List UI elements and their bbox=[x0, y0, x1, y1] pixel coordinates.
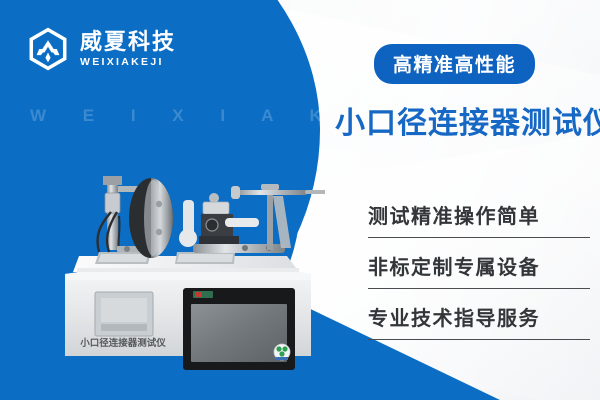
hero-badge: 高精准高性能 bbox=[374, 44, 535, 84]
machine-probe-arm bbox=[231, 184, 325, 250]
machine-front-label: 小口径连接器测试仪 bbox=[79, 337, 166, 349]
machine-body: 小口径连接器测试仪 bbox=[65, 272, 311, 370]
promo-banner: W E I X I A K E J I 威夏科技 WEIXIAKEJI bbox=[0, 0, 600, 400]
feature-list: 测试精准操作简单 非标定制专属设备 专业技术指导服务 bbox=[368, 200, 590, 340]
feature-item-1: 测试精准操作简单 bbox=[368, 200, 590, 238]
feature-item-2: 非标定制专属设备 bbox=[368, 251, 590, 289]
brand-name-en: WEIXIAKEJI bbox=[80, 57, 176, 68]
brand-logo-text: 威夏科技 WEIXIAKEJI bbox=[80, 31, 176, 68]
hero-headline: 小口径连接器测试仪 bbox=[335, 98, 600, 142]
machine-top-deck bbox=[73, 252, 299, 274]
feature-item-3: 专业技术指导服务 bbox=[368, 302, 590, 340]
recycle-certification-icon bbox=[274, 344, 290, 360]
brand-logo: 威夏科技 WEIXIAKEJI bbox=[26, 27, 176, 71]
product-image: 小口径连接器测试仪 bbox=[55, 160, 325, 375]
weixia-shield-logo-icon bbox=[26, 27, 70, 71]
machine-wheel-assembly bbox=[98, 176, 174, 258]
brand-name-cn: 威夏科技 bbox=[80, 31, 176, 53]
